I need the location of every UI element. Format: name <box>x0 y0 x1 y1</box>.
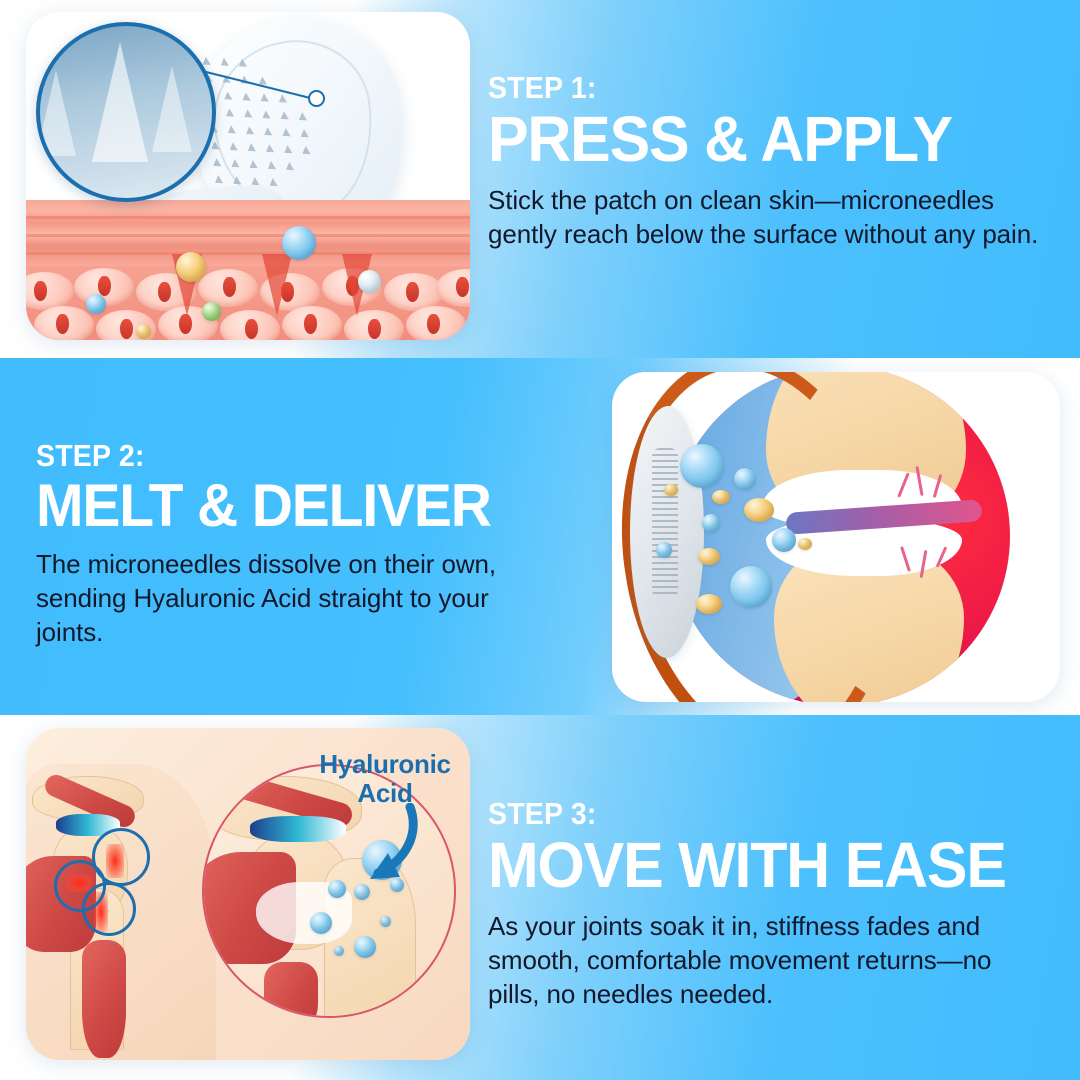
step-3-title: MOVE WITH EASE <box>488 833 1020 898</box>
hyaluronic-acid-molecule-icon <box>380 916 391 927</box>
step-3-body: As your joints soak it in, stiffness fad… <box>488 910 1048 1011</box>
step-1-image-card <box>26 12 470 340</box>
pain-point-circle-icon <box>92 828 150 886</box>
step-2-title: MELT & DELIVER <box>36 475 511 536</box>
magnifier-callout-dot-icon <box>308 90 325 107</box>
step-3-label: STEP 3: <box>488 798 1003 829</box>
molecule-bubble-icon <box>358 270 381 293</box>
step-3-panel: Hyaluronic Acid STEP 3: MOVE WITH EASE A… <box>0 715 1080 1080</box>
hyaluronic-acid-label-line-1: Hyaluronic <box>319 749 450 779</box>
hyaluronic-acid-molecule-icon <box>656 542 672 558</box>
needle-cone-icon <box>36 70 76 156</box>
needle-channel-icon <box>262 254 292 316</box>
hyaluronic-acid-molecule-icon <box>334 946 344 956</box>
patch-needle-dots-icon <box>652 448 678 598</box>
hyaluronic-acid-molecule-icon <box>310 912 332 934</box>
step-3-copy: STEP 3: MOVE WITH EASE As your joints so… <box>488 798 1048 1012</box>
nutrient-particle-icon <box>744 498 774 522</box>
nutrient-particle-icon <box>664 484 678 496</box>
hyaluronic-acid-annotation: Hyaluronic Acid <box>300 750 470 808</box>
step-1-body: Stick the patch on clean skin—microneedl… <box>488 184 1048 252</box>
hyaluronic-acid-molecule-icon <box>702 514 720 532</box>
biceps-muscle-zoom-icon <box>264 962 318 1018</box>
hyaluronic-acid-molecule-icon <box>734 468 756 490</box>
molecule-bubble-icon <box>86 294 106 314</box>
molecule-bubble-icon <box>202 302 221 321</box>
molecule-bubble-icon <box>176 252 206 282</box>
step-1-panel: STEP 1: PRESS & APPLY Stick the patch on… <box>0 0 1080 358</box>
step-2-body: The microneedles dissolve on their own, … <box>36 548 536 649</box>
knee-joint-delivery-illustration <box>612 372 1060 702</box>
molecule-bubble-icon <box>136 324 151 339</box>
pain-point-circle-icon <box>82 882 136 936</box>
needle-cone-icon <box>152 66 192 152</box>
step-2-label: STEP 2: <box>36 440 496 471</box>
infographic-poster: STEP 1: PRESS & APPLY Stick the patch on… <box>0 0 1080 1080</box>
hyaluronic-acid-molecule-icon <box>680 444 724 488</box>
step-2-panel: STEP 2: MELT & DELIVER The microneedles … <box>0 358 1080 715</box>
step-1-title: PRESS & APPLY <box>488 107 1020 172</box>
nutrient-particle-icon <box>698 548 720 565</box>
step-2-copy: STEP 2: MELT & DELIVER The microneedles … <box>36 440 536 650</box>
biceps-muscle-icon <box>82 940 126 1058</box>
skin-cross-section <box>26 200 470 340</box>
microneedle-patch-on-skin-illustration <box>26 12 470 340</box>
labrum-cartilage-zoom-icon <box>250 816 346 842</box>
step-2-image-card <box>612 372 1060 702</box>
nutrient-particle-icon <box>798 538 812 550</box>
nutrient-particle-icon <box>712 490 730 504</box>
step-1-copy: STEP 1: PRESS & APPLY Stick the patch on… <box>488 72 1048 252</box>
hyaluronic-acid-molecule-icon <box>772 528 796 552</box>
hyaluronic-acid-molecule-icon <box>730 566 772 608</box>
molecule-bubble-icon <box>282 226 316 260</box>
hyaluronic-acid-arrow-icon <box>336 803 426 889</box>
needle-cone-icon <box>92 42 148 162</box>
magnifier-circle-icon <box>36 22 216 202</box>
nutrient-particle-icon <box>696 594 722 614</box>
step-1-label: STEP 1: <box>488 72 1003 103</box>
epidermis-layer <box>26 200 470 266</box>
hyaluronic-acid-molecule-icon <box>354 936 376 958</box>
